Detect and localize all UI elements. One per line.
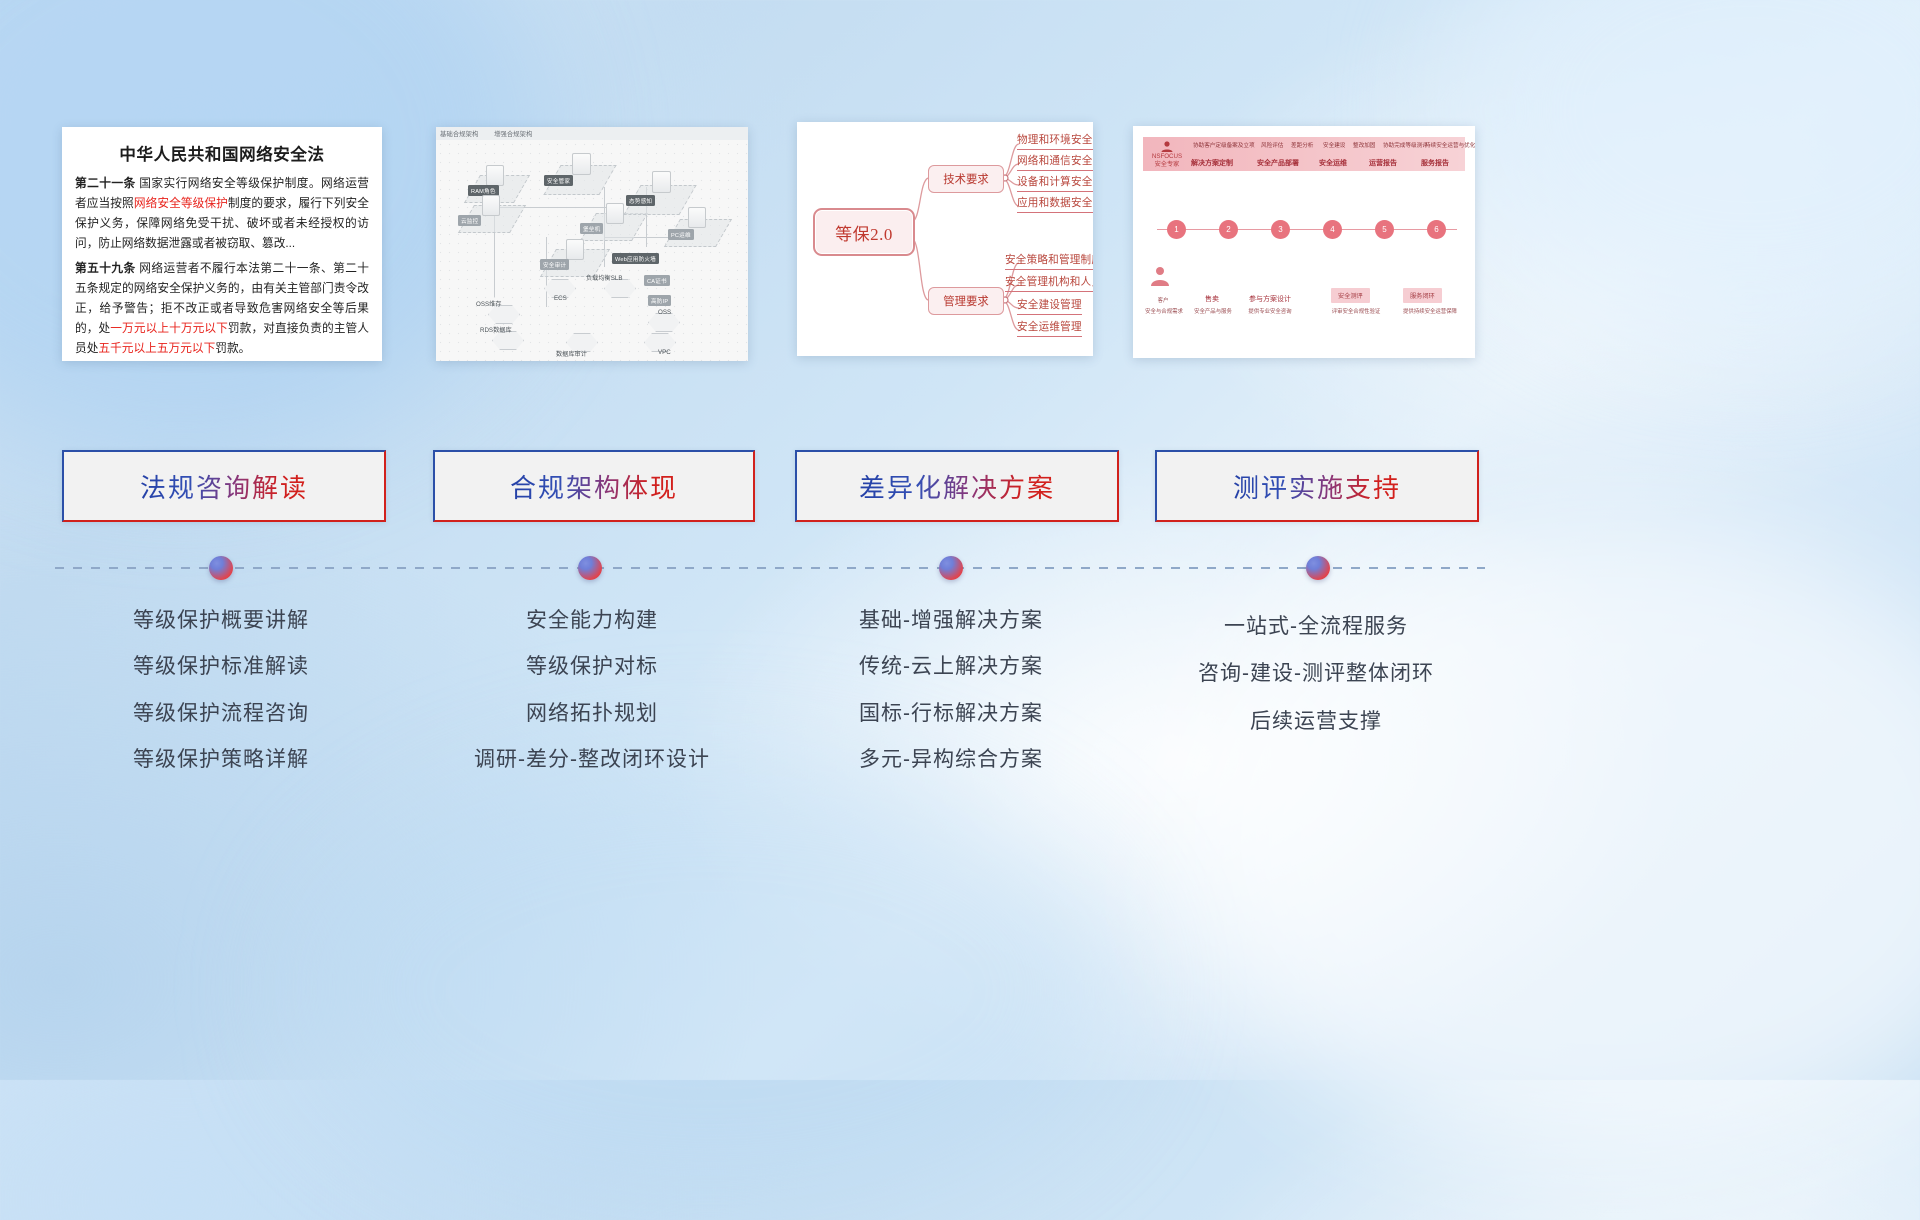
nsfocus-header-cell-3: 差距分析 [1291,141,1313,149]
headline-box-assessment-support[interactable]: 测评实施支持 [1155,450,1479,522]
arch-tag-anti-ddos: 高防IP [648,295,671,306]
headline-label-4: 测评实施支持 [1233,468,1401,505]
arch-tag-ca: CA证书 [644,275,670,286]
mindmap-leaf-org-personnel[interactable]: 安全管理机构和人员 [1005,274,1093,292]
mindmap-leaf-app-data[interactable]: 应用和数据安全 [1017,195,1093,213]
nsfocus-diagram: NSFOCUS 安全专家 协助客户定级备案及立项 风险评估 差距分析 安全建设 … [1133,126,1475,358]
arch-tag-guard: 安全管家 [544,175,573,186]
mindmap-branch-management[interactable]: 管理要求 [928,287,1004,315]
mindmap-diagram: 等保2.0 技术要求 物理和环境安全 网络和通信安全 设备和计算安全 应用和数据… [797,122,1093,356]
timeline-dot-3[interactable] [939,556,963,580]
timeline-dashed-axis [55,567,1485,569]
nsfocus-chip-closed-loop[interactable]: 服务闭环 [1403,288,1442,303]
list-item: 后续运营支撑 [1126,709,1506,735]
nsfocus-header-cell-7: 持续安全运营与优化 [1425,141,1475,149]
bullet-column-3: 基础-增强解决方案 传统-云上解决方案 国标-行标解决方案 多元-异构综合方案 [761,608,1141,773]
nsfocus-chip-assessment[interactable]: 安全测评 [1331,288,1370,303]
list-item: 调研-差分-整改闭环设计 [402,747,782,773]
mindmap-leaf-physical-env[interactable]: 物理和环境安全 [1017,132,1093,150]
list-item: 等级保护策略详解 [31,747,411,773]
mindmap-leaf-device-compute[interactable]: 设备和计算安全 [1017,174,1093,192]
nsfocus-sub-cell-2: 安全产品部署 [1257,158,1299,168]
nsfocus-header-cell-1: 协助客户定级备案及立项 [1193,141,1255,149]
bullet-column-4: 一站式-全流程服务 咨询-建设-测评整体闭环 后续运营支撑 [1126,614,1506,735]
arch-node-6 [652,171,671,193]
slide-canvas: 中华人民共和国网络安全法 第二十一条 国家实行网络安全等级保护制度。网络运营者应… [0,0,1920,1080]
arch-tag-bastion: 堡垒机 [580,223,603,234]
law-article-21-highlight: 网络安全等级保护 [134,197,228,210]
nsfocus-sub-cell-5: 服务报告 [1421,158,1449,168]
list-item: 网络拓扑规划 [402,701,782,727]
arch-tag-situation: 态势感知 [626,195,655,206]
timeline-dot-4[interactable] [1306,556,1330,580]
nsfocus-logo-line1: NSFOCUS [1147,153,1187,161]
arch-label-vpc: VPC [658,349,671,356]
nsfocus-timeline-axis [1157,229,1457,230]
bullet-column-2: 安全能力构建 等级保护对标 网络拓扑规划 调研-差分-整改闭环设计 [402,608,782,773]
nsfocus-header-cell-2: 风险评估 [1261,141,1283,149]
nsfocus-step-4[interactable]: 4 [1323,220,1342,239]
mindmap-leaf-policy-system[interactable]: 安全策略和管理制度 [1005,252,1093,270]
mindmap-root-node[interactable]: 等保2.0 [813,208,915,256]
headline-label-3: 差异化解决方案 [859,468,1055,505]
arch-label-rds: RDS数据库 [480,325,512,334]
mindmap-leaf-construction[interactable]: 安全建设管理 [1017,297,1082,315]
law-article-59-part3: 罚款。 [215,342,250,355]
list-item: 等级保护标准解读 [31,654,411,680]
mindmap-leaf-network-comm[interactable]: 网络和通信安全 [1017,153,1093,171]
arch-node-2 [482,195,500,216]
timeline-dot-1[interactable] [209,556,233,580]
nsfocus-step-5[interactable]: 5 [1375,220,1394,239]
nsfocus-logo: NSFOCUS 安全专家 [1147,140,1187,170]
law-title: 中华人民共和国网络安全法 [75,141,369,165]
card-nsfocus-timeline: NSFOCUS 安全专家 协助客户定级备案及立项 风险评估 差距分析 安全建设 … [1133,126,1475,358]
arch-label-db-audit: 数据库审计 [556,349,587,358]
nsfocus-chip-assessment-sub: 评审安全合规性验证 [1319,307,1393,315]
person-icon [1160,141,1174,152]
nsfocus-logo-line2: 安全专家 [1147,161,1187,169]
arch-tag-waf: Web应用防火墙 [612,253,659,264]
headline-box-regulation-consulting[interactable]: 法规咨询解读 [62,450,386,522]
headline-box-compliance-architecture[interactable]: 合规架构体现 [433,450,755,522]
list-item: 等级保护概要讲解 [31,608,411,634]
nsfocus-step-1[interactable]: 1 [1167,220,1186,239]
list-item: 一站式-全流程服务 [1126,614,1506,640]
arch-label-ecs: ECS [554,295,567,302]
arch-label-slb: 负载均衡SLB [586,273,622,282]
nsfocus-customer-icon [1149,266,1175,292]
headline-label-1: 法规咨询解读 [140,468,308,505]
list-item: 基础-增强解决方案 [761,608,1141,634]
arch-node-5 [566,239,584,260]
arch-node-7 [688,207,706,228]
law-article-59-label: 第五十九条 [75,262,136,275]
nsfocus-footer-customer-title: 客户 [1145,296,1181,304]
architecture-top-bar: 基础合规架构 增强合规架构 [436,127,748,140]
law-article-59-highlight-2: 五千元以上五万元以下 [98,342,215,355]
nsfocus-header-cell-5: 整改加固 [1353,141,1375,149]
list-item: 等级保护对标 [402,654,782,680]
law-text-body: 中华人民共和国网络安全法 第二十一条 国家实行网络安全等级保护制度。网络运营者应… [62,127,382,361]
headline-box-differentiated-solution[interactable]: 差异化解决方案 [795,450,1119,522]
arch-node-3 [572,153,591,175]
card-cybersecurity-law: 中华人民共和国网络安全法 第二十一条 国家实行网络安全等级保护制度。网络运营者应… [62,127,382,361]
arch-node-4 [606,203,624,224]
mindmap-branch-technical[interactable]: 技术要求 [928,165,1004,193]
arch-tag-monitor: 云监控 [458,215,481,226]
nsfocus-sub-cell-1: 解决方案定制 [1191,158,1233,168]
headline-label-2: 合规架构体现 [510,468,678,505]
list-item: 安全能力构建 [402,608,782,634]
nsfocus-step-6[interactable]: 6 [1427,220,1446,239]
law-article-59-highlight-1: 一万元以上十万元以下 [110,322,228,335]
architecture-diagram: 基础合规架构 增强合规架构 RAM角色 云监控 安全管家 堡垒机 [436,127,748,361]
nsfocus-footer-design: 参与方案设计 [1239,294,1301,304]
arch-label-oss: OSS [658,309,671,316]
law-article-21-label: 第二十一条 [75,177,136,190]
list-item: 国标-行标解决方案 [761,701,1141,727]
list-item: 传统-云上解决方案 [761,654,1141,680]
nsfocus-footer-sell: 售卖 [1195,294,1229,304]
nsfocus-step-2[interactable]: 2 [1219,220,1238,239]
arch-label-oss-storage: OSS维存 [476,299,501,308]
mindmap-leaf-operation[interactable]: 安全运维管理 [1017,319,1082,337]
law-article-59: 第五十九条 网络运营者不履行本法第二十一条、第二十五条规定的网络安全保护义务的，… [75,259,369,360]
nsfocus-footer-sell-sub: 安全产品与服务 [1187,307,1239,315]
nsfocus-sub-cell-4: 运营报告 [1369,158,1397,168]
arch-tag-pc-ops: PC运维 [668,229,694,240]
list-item: 等级保护流程咨询 [31,701,411,727]
nsfocus-sub-cell-3: 安全运维 [1319,158,1347,168]
list-item: 咨询-建设-测评整体闭环 [1126,661,1506,687]
arch-bar-right-label: 增强合规架构 [494,129,532,138]
nsfocus-chip-closed-loop-sub: 提供持续安全运营保障 [1389,307,1471,315]
arch-bar-left-label: 基础合规架构 [440,129,478,138]
nsfocus-footer-design-sub: 提供专业安全咨询 [1235,307,1305,315]
arch-node-1 [486,165,504,186]
customer-person-icon [1149,266,1171,286]
nsfocus-header-cell-4: 安全建设 [1323,141,1345,149]
law-article-21: 第二十一条 国家实行网络安全等级保护制度。网络运营者应当按照网络安全等级保护制度… [75,174,369,255]
timeline-dot-2[interactable] [578,556,602,580]
list-item: 多元-异构综合方案 [761,747,1141,773]
card-compliance-architecture: 基础合规架构 增强合规架构 RAM角色 云监控 安全管家 堡垒机 [436,127,748,361]
bullet-column-1: 等级保护概要讲解 等级保护标准解读 等级保护流程咨询 等级保护策略详解 [31,608,411,773]
nsfocus-step-3[interactable]: 3 [1271,220,1290,239]
arch-tag-audit: 安全审计 [540,259,569,270]
nsfocus-footer-customer-sub: 安全与合规需求 [1137,307,1191,315]
card-mindmap-dengbao: 等保2.0 技术要求 物理和环境安全 网络和通信安全 设备和计算安全 应用和数据… [797,122,1093,356]
nsfocus-header-cell-6: 协助完成等级测评 [1383,141,1428,149]
